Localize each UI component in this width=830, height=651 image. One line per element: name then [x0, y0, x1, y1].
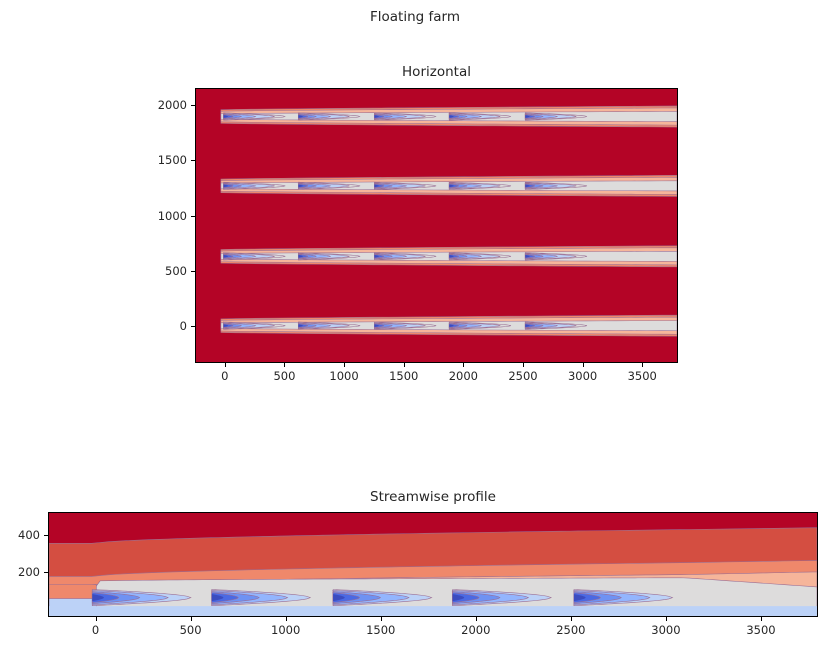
streamwise-xticklabel: 1500 — [366, 623, 395, 637]
streamwise-xtick — [191, 617, 192, 621]
streamwise-xtick — [761, 617, 762, 621]
streamwise-plot-area — [48, 512, 818, 617]
horizontal-yticklabel: 1500 — [143, 153, 187, 167]
horizontal-plot-title: Horizontal — [195, 64, 678, 80]
horizontal-yticklabel: 0 — [143, 319, 187, 333]
horizontal-xtick — [225, 363, 226, 367]
streamwise-xtick — [96, 617, 97, 621]
horizontal-xticklabel: 3500 — [628, 369, 657, 383]
horizontal-plot-area — [195, 88, 678, 363]
streamwise-xticklabel: 2000 — [461, 623, 490, 637]
streamwise-xticklabel: 1000 — [271, 623, 300, 637]
figure-canvas: Floating farm Horizontal 050010001500200… — [0, 0, 830, 651]
horizontal-ytick — [191, 105, 195, 106]
horizontal-xticklabel: 0 — [221, 369, 228, 383]
horizontal-xticklabel: 500 — [273, 369, 295, 383]
streamwise-yticklabel: 400 — [0, 528, 40, 542]
streamwise-xtick — [381, 617, 382, 621]
horizontal-xtick — [523, 363, 524, 367]
horizontal-xtick — [404, 363, 405, 367]
horizontal-contour-field — [196, 89, 677, 362]
streamwise-xticklabel: 0 — [92, 623, 99, 637]
horizontal-ytick — [191, 326, 195, 327]
horizontal-xtick — [344, 363, 345, 367]
horizontal-ytick — [191, 271, 195, 272]
figure-suptitle: Floating farm — [0, 9, 830, 25]
streamwise-yticklabel: 200 — [0, 565, 40, 579]
horizontal-xticklabel: 2500 — [508, 369, 537, 383]
streamwise-xtick — [571, 617, 572, 621]
horizontal-xticklabel: 2000 — [449, 369, 478, 383]
streamwise-ytick — [44, 572, 48, 573]
streamwise-xticklabel: 3500 — [746, 623, 775, 637]
horizontal-ytick — [191, 216, 195, 217]
horizontal-yticklabel: 2000 — [143, 98, 187, 112]
horizontal-xtick — [642, 363, 643, 367]
streamwise-xticklabel: 3000 — [651, 623, 680, 637]
streamwise-plot-title: Streamwise profile — [48, 489, 818, 505]
horizontal-yticklabel: 500 — [143, 264, 187, 278]
streamwise-ytick — [44, 535, 48, 536]
horizontal-yticklabel: 1000 — [143, 209, 187, 223]
streamwise-contour-field — [49, 513, 817, 616]
contour-band — [49, 606, 817, 616]
streamwise-xtick — [666, 617, 667, 621]
horizontal-xticklabel: 1000 — [329, 369, 358, 383]
streamwise-xtick — [476, 617, 477, 621]
streamwise-xticklabel: 2500 — [556, 623, 585, 637]
horizontal-ytick — [191, 160, 195, 161]
streamwise-xtick — [286, 617, 287, 621]
streamwise-xticklabel: 500 — [180, 623, 202, 637]
horizontal-xtick — [463, 363, 464, 367]
horizontal-xticklabel: 1500 — [389, 369, 418, 383]
horizontal-xticklabel: 3000 — [568, 369, 597, 383]
horizontal-xtick — [583, 363, 584, 367]
horizontal-xtick — [284, 363, 285, 367]
